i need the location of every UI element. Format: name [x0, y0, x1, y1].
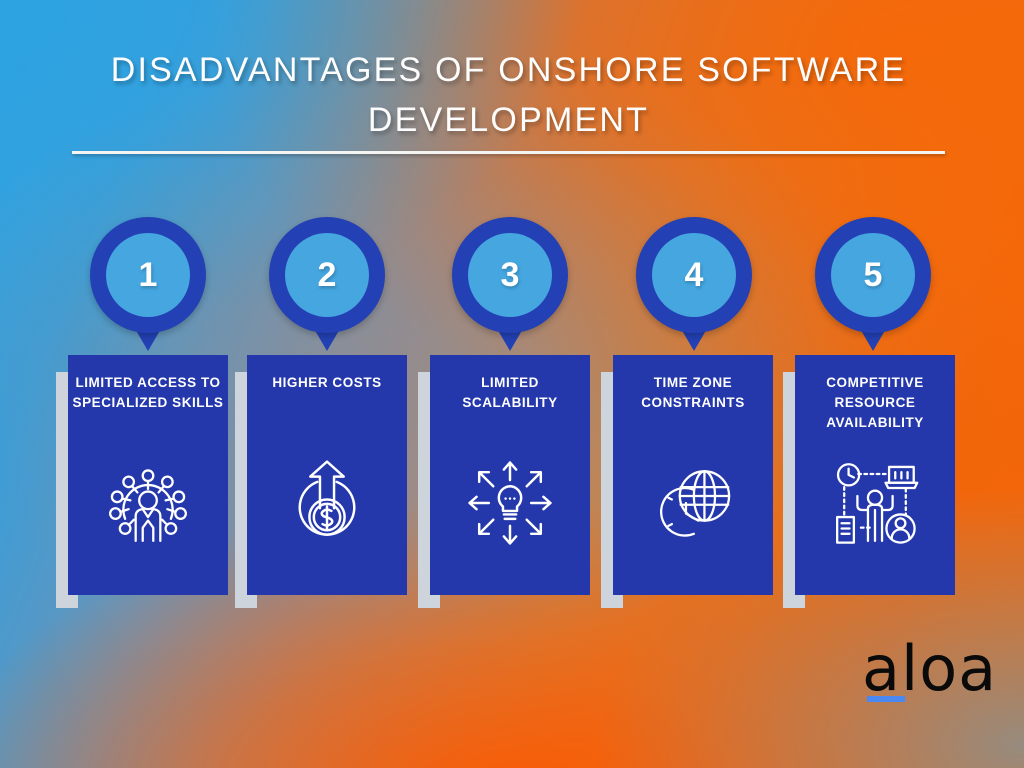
rising-cost-dollar-coin-icon — [283, 459, 371, 547]
page-title-line-2: DEVELOPMENT — [72, 95, 945, 145]
step-pin-3[interactable]: 3 — [452, 217, 568, 333]
person-skills-network-icon — [104, 459, 192, 547]
card-5-label: COMPETITIVE RESOURCE AVAILABILITY — [799, 373, 951, 433]
card-2-label: HIGHER COSTS — [251, 373, 403, 393]
globe-clock-icon — [649, 459, 737, 547]
step-pin-1-inner: 1 — [106, 233, 190, 317]
step-pin-5-inner: 5 — [831, 233, 915, 317]
step-pin-1[interactable]: 1 — [90, 217, 206, 333]
step-pin-4[interactable]: 4 — [636, 217, 752, 333]
aloa-logo-text: aloa — [862, 638, 1002, 700]
disadvantage-card-5[interactable]: COMPETITIVE RESOURCE AVAILABILITY — [795, 355, 955, 595]
step-number-1: 1 — [139, 258, 158, 292]
page-title: DISADVANTAGES OF ONSHORE SOFTWARE DEVELO… — [72, 45, 945, 145]
step-number-5: 5 — [864, 258, 883, 292]
disadvantage-card-4[interactable]: TIME ZONE CONSTRAINTS — [613, 355, 773, 595]
disadvantage-card-2[interactable]: HIGHER COSTS — [247, 355, 407, 595]
step-number-3: 3 — [501, 258, 520, 292]
card-1-label: LIMITED ACCESS TO SPECIALIZED SKILLS — [72, 373, 224, 413]
step-pin-2[interactable]: 2 — [269, 217, 385, 333]
step-pin-5[interactable]: 5 — [815, 217, 931, 333]
title-divider-rule — [72, 151, 945, 154]
aloa-logo[interactable]: aloa — [862, 638, 1002, 710]
infographic-stage: DISADVANTAGES OF ONSHORE SOFTWARE DEVELO… — [0, 0, 1024, 768]
card-4-label: TIME ZONE CONSTRAINTS — [617, 373, 769, 413]
step-pin-2-inner: 2 — [285, 233, 369, 317]
step-pin-4-inner: 4 — [652, 233, 736, 317]
step-pin-3-inner: 3 — [468, 233, 552, 317]
person-resources-network-icon — [831, 459, 919, 547]
step-number-4: 4 — [685, 258, 704, 292]
step-number-2: 2 — [318, 258, 337, 292]
lightbulb-expand-arrows-icon — [466, 459, 554, 547]
disadvantage-card-1[interactable]: LIMITED ACCESS TO SPECIALIZED SKILLS — [68, 355, 228, 595]
disadvantage-card-3[interactable]: LIMITED SCALABILITY — [430, 355, 590, 595]
page-title-line-1: DISADVANTAGES OF ONSHORE SOFTWARE — [72, 45, 945, 95]
card-3-label: LIMITED SCALABILITY — [434, 373, 586, 413]
aloa-logo-underline — [867, 696, 905, 702]
